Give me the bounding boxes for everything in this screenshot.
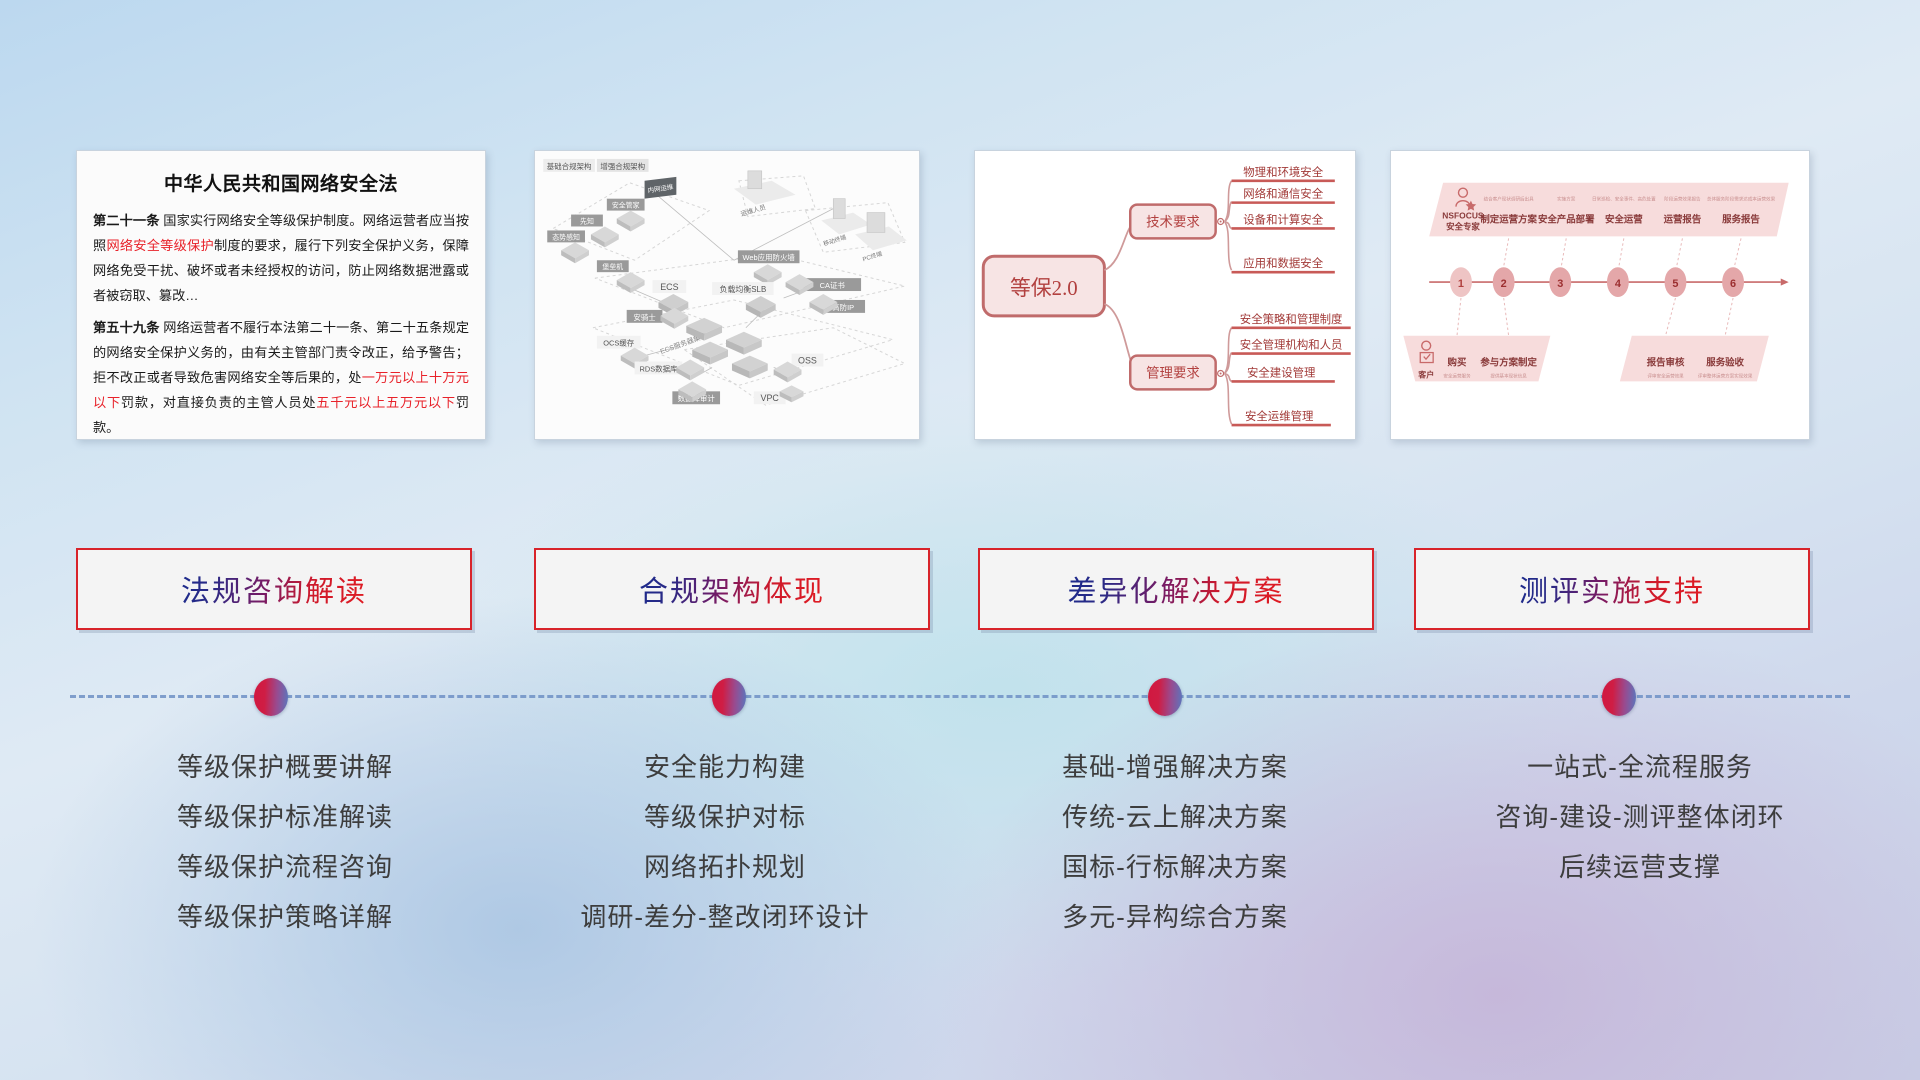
list-item: 后续运营支撑 bbox=[1410, 842, 1870, 892]
list-item: 传统-云上解决方案 bbox=[950, 792, 1400, 842]
list-item: 等级保护流程咨询 bbox=[60, 842, 510, 892]
list-item: 安全能力构建 bbox=[500, 742, 950, 792]
list-item: 多元-异构综合方案 bbox=[950, 892, 1400, 942]
list-item: 基础-增强解决方案 bbox=[950, 742, 1400, 792]
list-item: 咨询-建设-测评整体闭环 bbox=[1410, 792, 1870, 842]
list-item: 国标-行标解决方案 bbox=[950, 842, 1400, 892]
section-items-4: 一站式-全流程服务 咨询-建设-测评整体闭环 后续运营支撑 bbox=[1410, 742, 1870, 892]
section-items-1: 等级保护概要讲解 等级保护标准解读 等级保护流程咨询 等级保护策略详解 bbox=[60, 742, 510, 942]
list-item: 等级保护策略详解 bbox=[60, 892, 510, 942]
timeline-dashed-line bbox=[70, 695, 1850, 698]
list-item: 等级保护标准解读 bbox=[60, 792, 510, 842]
list-item: 一站式-全流程服务 bbox=[1410, 742, 1870, 792]
list-item: 调研-差分-整改闭环设计 bbox=[500, 892, 950, 942]
list-item: 网络拓扑规划 bbox=[500, 842, 950, 892]
list-item: 等级保护对标 bbox=[500, 792, 950, 842]
section-items-3: 基础-增强解决方案 传统-云上解决方案 国标-行标解决方案 多元-异构综合方案 bbox=[950, 742, 1400, 942]
timeline-dot-3 bbox=[1148, 678, 1182, 716]
list-item: 等级保护概要讲解 bbox=[60, 742, 510, 792]
timeline-dot-2 bbox=[712, 678, 746, 716]
section-items-2: 安全能力构建 等级保护对标 网络拓扑规划 调研-差分-整改闭环设计 bbox=[500, 742, 950, 942]
timeline-dot-4 bbox=[1602, 678, 1636, 716]
timeline-dot-1 bbox=[254, 678, 288, 716]
